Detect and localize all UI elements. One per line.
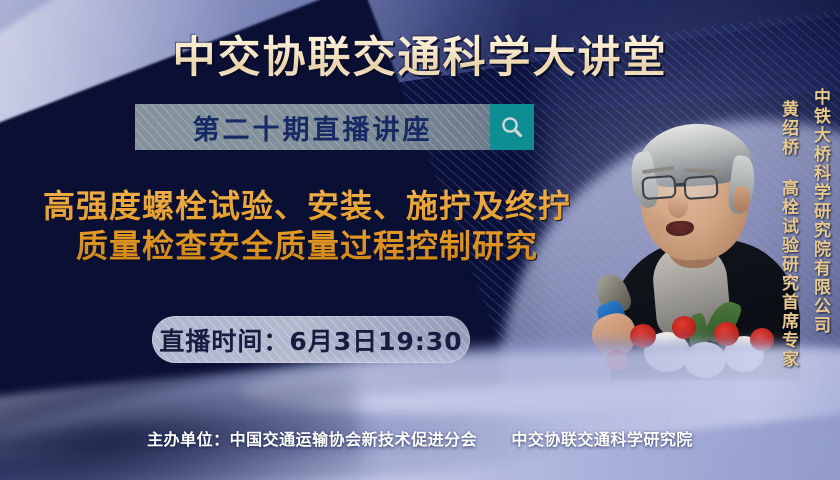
episode-label: 第二十期直播讲座 xyxy=(193,108,433,147)
live-time-badge: 直播时间：6月3日19:30 xyxy=(152,316,470,363)
footer-dark-shadow xyxy=(0,356,365,480)
speaker-name-title: 黄绍桥 高栓试验研究首席专家 xyxy=(779,100,796,375)
lecture-headline-line2: 质量检查安全质量过程控制研究 xyxy=(8,226,606,266)
speaker-organization: 中铁大桥科学研究院有限公司 xyxy=(811,88,828,368)
lecture-headline-line1: 高强度螺栓试验、安装、施拧及终拧 xyxy=(43,187,571,225)
footer-organizers: 主办单位：中国交通运输协会新技术促进分会 中交协联交通科学研究院 xyxy=(0,426,840,450)
live-time-label: 直播时间：6月3日19:30 xyxy=(159,322,462,358)
speaker-ear xyxy=(733,186,750,212)
speaker-nose xyxy=(668,194,688,218)
episode-banner: 第二十期直播讲座 xyxy=(135,104,490,150)
speaker-glasses-right xyxy=(683,175,719,200)
webinar-poster: 中交协联交通科学大讲堂 第二十期直播讲座 高强度螺栓试验、安装、施拧及终拧 质量… xyxy=(0,0,840,480)
footer-institute-label: 中交协联交通科学研究院 xyxy=(511,430,693,449)
lecture-headline: 高强度螺栓试验、安装、施拧及终拧 质量检查安全质量过程控制研究 xyxy=(8,186,606,267)
search-icon[interactable] xyxy=(490,104,534,150)
footer-host-label: 主办单位：中国交通运输协会新技术促进分会 xyxy=(147,430,477,449)
page-title: 中交协联交通科学大讲堂 xyxy=(0,23,840,85)
